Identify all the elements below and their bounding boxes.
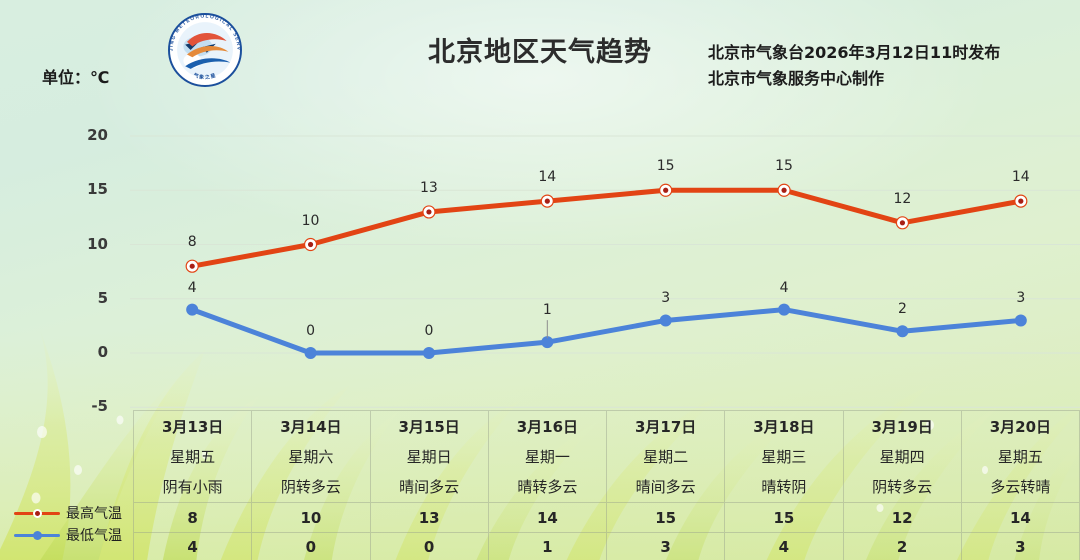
forecast-condition: 晴间多云 (371, 471, 488, 503)
forecast-low-temp: 3 (607, 533, 724, 560)
low-temperature-point (186, 304, 198, 316)
forecast-condition: 阴有小雨 (134, 471, 251, 503)
y-axis-tick: 20 (68, 126, 108, 144)
legend-item-high: 最高气温 (14, 502, 122, 524)
forecast-condition: 阴转多云 (844, 471, 961, 503)
forecast-weekday: 星期三 (725, 441, 842, 471)
forecast-date: 3月17日 (607, 411, 724, 441)
high-temperature-point-core (663, 188, 668, 193)
low-temperature-point (778, 304, 790, 316)
low-temperature-point (1015, 314, 1027, 326)
forecast-column: 3月20日星期五多云转晴143 (962, 411, 1080, 560)
forecast-column: 3月15日星期日晴间多云130 (371, 411, 489, 560)
forecast-date: 3月19日 (844, 411, 961, 441)
forecast-high-temp: 8 (134, 503, 251, 533)
forecast-table: 3月13日星期五阴有小雨843月14日星期六阴转多云1003月15日星期日晴间多… (133, 410, 1080, 560)
high-temperature-label: 15 (775, 158, 793, 174)
high-temperature-label: 12 (894, 191, 912, 207)
forecast-column: 3月19日星期四阴转多云122 (844, 411, 962, 560)
forecast-weekday: 星期五 (962, 441, 1079, 471)
high-temperature-label: 14 (1012, 169, 1030, 185)
low-temperature-label: 4 (188, 280, 197, 296)
forecast-column: 3月17日星期二晴间多云153 (607, 411, 725, 560)
forecast-high-temp: 10 (252, 503, 369, 533)
forecast-date: 3月18日 (725, 411, 842, 441)
forecast-high-temp: 13 (371, 503, 488, 533)
high-temperature-point-core (426, 209, 431, 214)
forecast-low-temp: 3 (962, 533, 1079, 560)
legend-label-high: 最高气温 (66, 503, 122, 523)
high-temperature-point-core (1018, 199, 1023, 204)
low-temperature-point (305, 347, 317, 359)
forecast-date: 3月20日 (962, 411, 1079, 441)
low-temperature-point (896, 325, 908, 337)
forecast-condition: 多云转晴 (962, 471, 1079, 503)
low-temperature-label: 0 (424, 323, 433, 339)
forecast-column: 3月18日星期三晴转阴154 (725, 411, 843, 560)
y-axis-tick: 10 (68, 235, 108, 253)
forecast-date: 3月16日 (489, 411, 606, 441)
forecast-column: 3月16日星期一晴转多云141 (489, 411, 607, 560)
forecast-low-temp: 4 (725, 533, 842, 560)
forecast-high-temp: 15 (725, 503, 842, 533)
chart-legend: 最高气温 最低气温 (14, 502, 122, 546)
legend-swatch-high-icon (14, 506, 60, 520)
y-axis-tick: -5 (68, 397, 108, 415)
legend-swatch-low-icon (14, 528, 60, 542)
legend-label-low: 最低气温 (66, 525, 122, 545)
low-temperature-label: 2 (898, 301, 907, 317)
forecast-high-temp: 14 (489, 503, 606, 533)
high-temperature-point-core (190, 264, 195, 269)
y-axis-tick: 15 (68, 180, 108, 198)
low-temperature-label: 4 (780, 280, 789, 296)
forecast-date: 3月13日 (134, 411, 251, 441)
forecast-weekday: 星期四 (844, 441, 961, 471)
high-temperature-label: 10 (302, 213, 320, 229)
low-temperature-label: 3 (1016, 290, 1025, 306)
high-temperature-point-core (900, 220, 905, 225)
forecast-low-temp: 0 (371, 533, 488, 560)
temperature-trend-chart: 20151050-5 81013141515121440013423 (0, 0, 1080, 430)
high-temperature-point-core (781, 188, 786, 193)
y-axis-tick: 0 (68, 343, 108, 361)
low-temperature-point (423, 347, 435, 359)
forecast-weekday: 星期日 (371, 441, 488, 471)
forecast-weekday: 星期二 (607, 441, 724, 471)
low-temperature-label: 1 (543, 302, 552, 318)
forecast-date: 3月15日 (371, 411, 488, 441)
weather-trend-poster: BEIJING METEOROLOGICAL SERVICE 气象之星 北京地区… (0, 0, 1080, 560)
forecast-high-temp: 12 (844, 503, 961, 533)
forecast-high-temp: 14 (962, 503, 1079, 533)
low-temperature-label: 0 (306, 323, 315, 339)
high-temperature-label: 13 (420, 180, 438, 196)
forecast-condition: 阴转多云 (252, 471, 369, 503)
forecast-condition: 晴转多云 (489, 471, 606, 503)
high-temperature-label: 8 (188, 234, 197, 250)
forecast-weekday: 星期六 (252, 441, 369, 471)
high-temperature-point-core (545, 199, 550, 204)
chart-gridlines (130, 136, 1080, 407)
forecast-low-temp: 1 (489, 533, 606, 560)
forecast-column: 3月13日星期五阴有小雨84 (134, 411, 252, 560)
low-temperature-point (660, 314, 672, 326)
legend-item-low: 最低气温 (14, 524, 122, 546)
low-temperature-label: 3 (661, 290, 670, 306)
forecast-weekday: 星期一 (489, 441, 606, 471)
forecast-high-temp: 15 (607, 503, 724, 533)
forecast-condition: 晴间多云 (607, 471, 724, 503)
forecast-low-temp: 4 (134, 533, 251, 560)
high-temperature-label: 15 (657, 158, 675, 174)
forecast-weekday: 星期五 (134, 441, 251, 471)
high-temperature-label: 14 (538, 169, 556, 185)
forecast-condition: 晴转阴 (725, 471, 842, 503)
forecast-low-temp: 2 (844, 533, 961, 560)
forecast-date: 3月14日 (252, 411, 369, 441)
high-temperature-point-core (308, 242, 313, 247)
y-axis-tick: 5 (68, 289, 108, 307)
forecast-column: 3月14日星期六阴转多云100 (252, 411, 370, 560)
forecast-low-temp: 0 (252, 533, 369, 560)
